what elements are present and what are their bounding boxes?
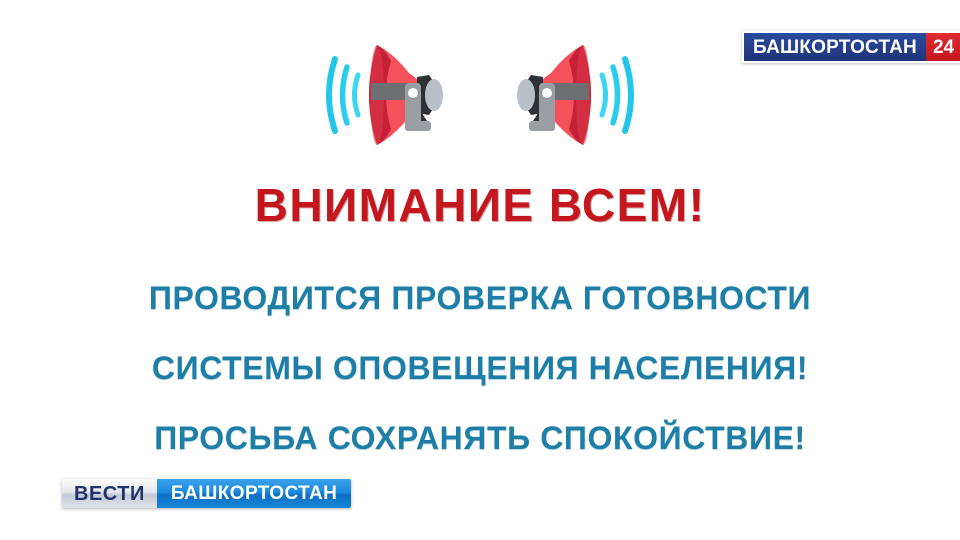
- alert-message: ПРОВОДИТСЯ ПРОВЕРКА ГОТОВНОСТИ СИСТЕМЫ О…: [0, 282, 960, 454]
- megaphone-body-left: [369, 45, 443, 145]
- broadcast-alert-screen: БАШКОРТОСТАН 24: [0, 0, 960, 540]
- lower-third-primary-label: ВЕСТИ: [62, 479, 157, 508]
- alert-message-line: СИСТЕМЫ ОПОВЕЩЕНИЯ НАСЕЛЕНИЯ!: [0, 352, 960, 384]
- alert-headline: ВНИМАНИЕ ВСЕМ!: [0, 182, 960, 228]
- megaphone-body-right: [517, 45, 591, 145]
- alert-message-line: ПРОВОДИТСЯ ПРОВЕРКА ГОТОВНОСТИ: [0, 282, 960, 314]
- sound-waves-right: [602, 59, 631, 131]
- alert-message-line: ПРОСЬБА СОХРАНЯТЬ СПОКОЙСТВИЕ!: [0, 422, 960, 454]
- megaphone-icon-right: [493, 25, 643, 165]
- lower-third-logo: ВЕСТИ БАШКОРТОСТАН: [62, 479, 351, 508]
- megaphone-illustration: [0, 22, 960, 167]
- sound-waves-left: [329, 59, 358, 131]
- megaphone-icon-left: [317, 25, 467, 165]
- lower-third-secondary-label: БАШКОРТОСТАН: [157, 479, 351, 508]
